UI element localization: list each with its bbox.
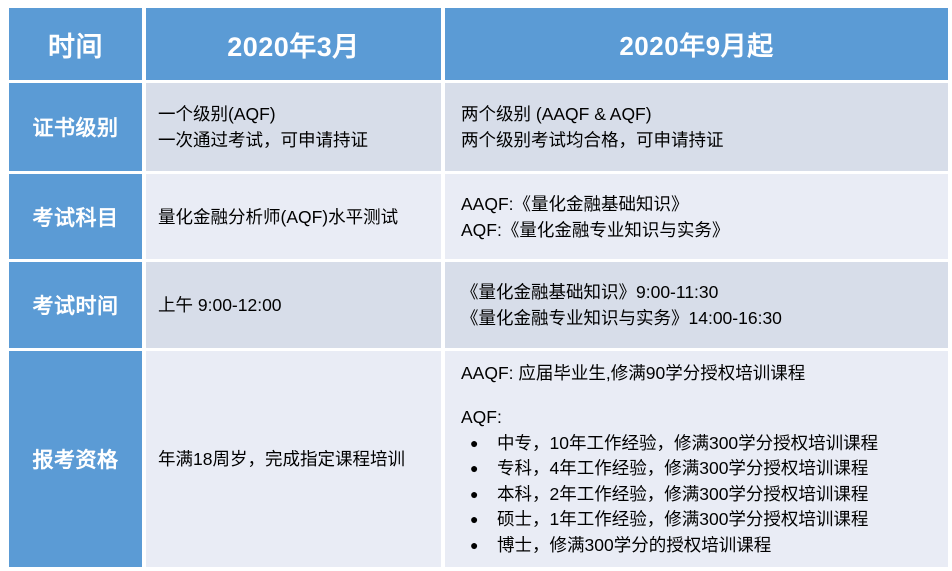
list-item: ● 本科，2年工作经验，修满300学分授权培训课程 [467, 482, 948, 508]
row-label-exam-time: 考试时间 [9, 262, 142, 348]
cell-september-exam-subjects: AAQF:《量化金融基础知识》 AQF:《量化金融专业知识与实务》 [445, 174, 948, 259]
row-label-certificate-level: 证书级别 [9, 83, 142, 171]
list-item-label: 中专，10年工作经验，修满300学分授权培训课程 [497, 433, 878, 453]
header-cell-march-2020: 2020年3月 [146, 8, 441, 80]
cell-line: 一个级别(AQF) [158, 101, 441, 127]
eligibility-aqf-label: AQF: [461, 404, 948, 430]
table-row: 考试时间 上午 9:00-12:00 《量化金融基础知识》9:00-11:30 … [9, 262, 948, 348]
bullet-icon: ● [470, 533, 478, 559]
list-item: ● 硕士，1年工作经验，修满300学分授权培训课程 [467, 507, 948, 533]
eligibility-aaqf-line: AAQF: 应届毕业生,修满90学分授权培训课程 [461, 360, 948, 386]
cell-march-exam-time: 上午 9:00-12:00 [146, 262, 441, 348]
header-cell-time: 时间 [9, 8, 142, 80]
list-item: ● 专科，4年工作经验，修满300学分授权培训课程 [467, 456, 948, 482]
bullet-icon: ● [470, 456, 478, 482]
eligibility-spacer [461, 388, 948, 404]
bullet-icon: ● [470, 507, 478, 533]
cell-line: 量化金融分析师(AQF)水平测试 [158, 204, 441, 230]
table-header-row: 时间 2020年3月 2020年9月起 [9, 8, 948, 80]
row-label-eligibility: 报考资格 [9, 351, 142, 567]
cell-line: 年满18周岁，完成指定课程培训 [158, 446, 441, 472]
header-cell-september-2020: 2020年9月起 [445, 8, 948, 80]
comparison-table-slide: 时间 2020年3月 2020年9月起 证书级别 一个级别(AQF) 一次通过考… [0, 0, 952, 571]
cell-september-exam-time: 《量化金融基础知识》9:00-11:30 《量化金融专业知识与实务》14:00-… [445, 262, 948, 348]
cell-line: 《量化金融基础知识》9:00-11:30 [461, 279, 948, 305]
eligibility-bullet-list: ● 中专，10年工作经验，修满300学分授权培训课程 ● 专科，4年工作经验，修… [461, 431, 948, 559]
cell-line: 一次通过考试，可申请持证 [158, 127, 441, 153]
cell-march-exam-subjects: 量化金融分析师(AQF)水平测试 [146, 174, 441, 259]
bullet-icon: ● [470, 482, 478, 508]
bullet-icon: ● [470, 431, 478, 457]
list-item-label: 博士，修满300学分的授权培训课程 [497, 535, 771, 555]
cell-line: 两个级别 (AAQF & AQF) [461, 101, 948, 127]
cell-line: 两个级别考试均合格，可申请持证 [461, 127, 948, 153]
list-item-label: 硕士，1年工作经验，修满300学分授权培训课程 [497, 509, 868, 529]
cell-september-eligibility: AAQF: 应届毕业生,修满90学分授权培训课程 AQF: ● 中专，10年工作… [445, 351, 948, 567]
row-label-exam-subjects: 考试科目 [9, 174, 142, 259]
list-item-label: 本科，2年工作经验，修满300学分授权培训课程 [497, 484, 868, 504]
cell-line: AAQF:《量化金融基础知识》 [461, 191, 948, 217]
table-row: 证书级别 一个级别(AQF) 一次通过考试，可申请持证 两个级别 (AAQF &… [9, 83, 948, 171]
cell-march-eligibility: 年满18周岁，完成指定课程培训 [146, 351, 441, 567]
cell-september-certificate-level: 两个级别 (AAQF & AQF) 两个级别考试均合格，可申请持证 [445, 83, 948, 171]
table-row: 报考资格 年满18周岁，完成指定课程培训 AAQF: 应届毕业生,修满90学分授… [9, 351, 948, 567]
cell-march-certificate-level: 一个级别(AQF) 一次通过考试，可申请持证 [146, 83, 441, 171]
cell-line: AQF:《量化金融专业知识与实务》 [461, 217, 948, 243]
table-row: 考试科目 量化金融分析师(AQF)水平测试 AAQF:《量化金融基础知识》 AQ… [9, 174, 948, 259]
cell-line: 上午 9:00-12:00 [158, 292, 441, 318]
list-item-label: 专科，4年工作经验，修满300学分授权培训课程 [497, 458, 868, 478]
list-item: ● 博士，修满300学分的授权培训课程 [467, 533, 948, 559]
cell-line: 《量化金融专业知识与实务》14:00-16:30 [461, 305, 948, 331]
certification-comparison-table: 时间 2020年3月 2020年9月起 证书级别 一个级别(AQF) 一次通过考… [5, 5, 952, 570]
list-item: ● 中专，10年工作经验，修满300学分授权培训课程 [467, 431, 948, 457]
